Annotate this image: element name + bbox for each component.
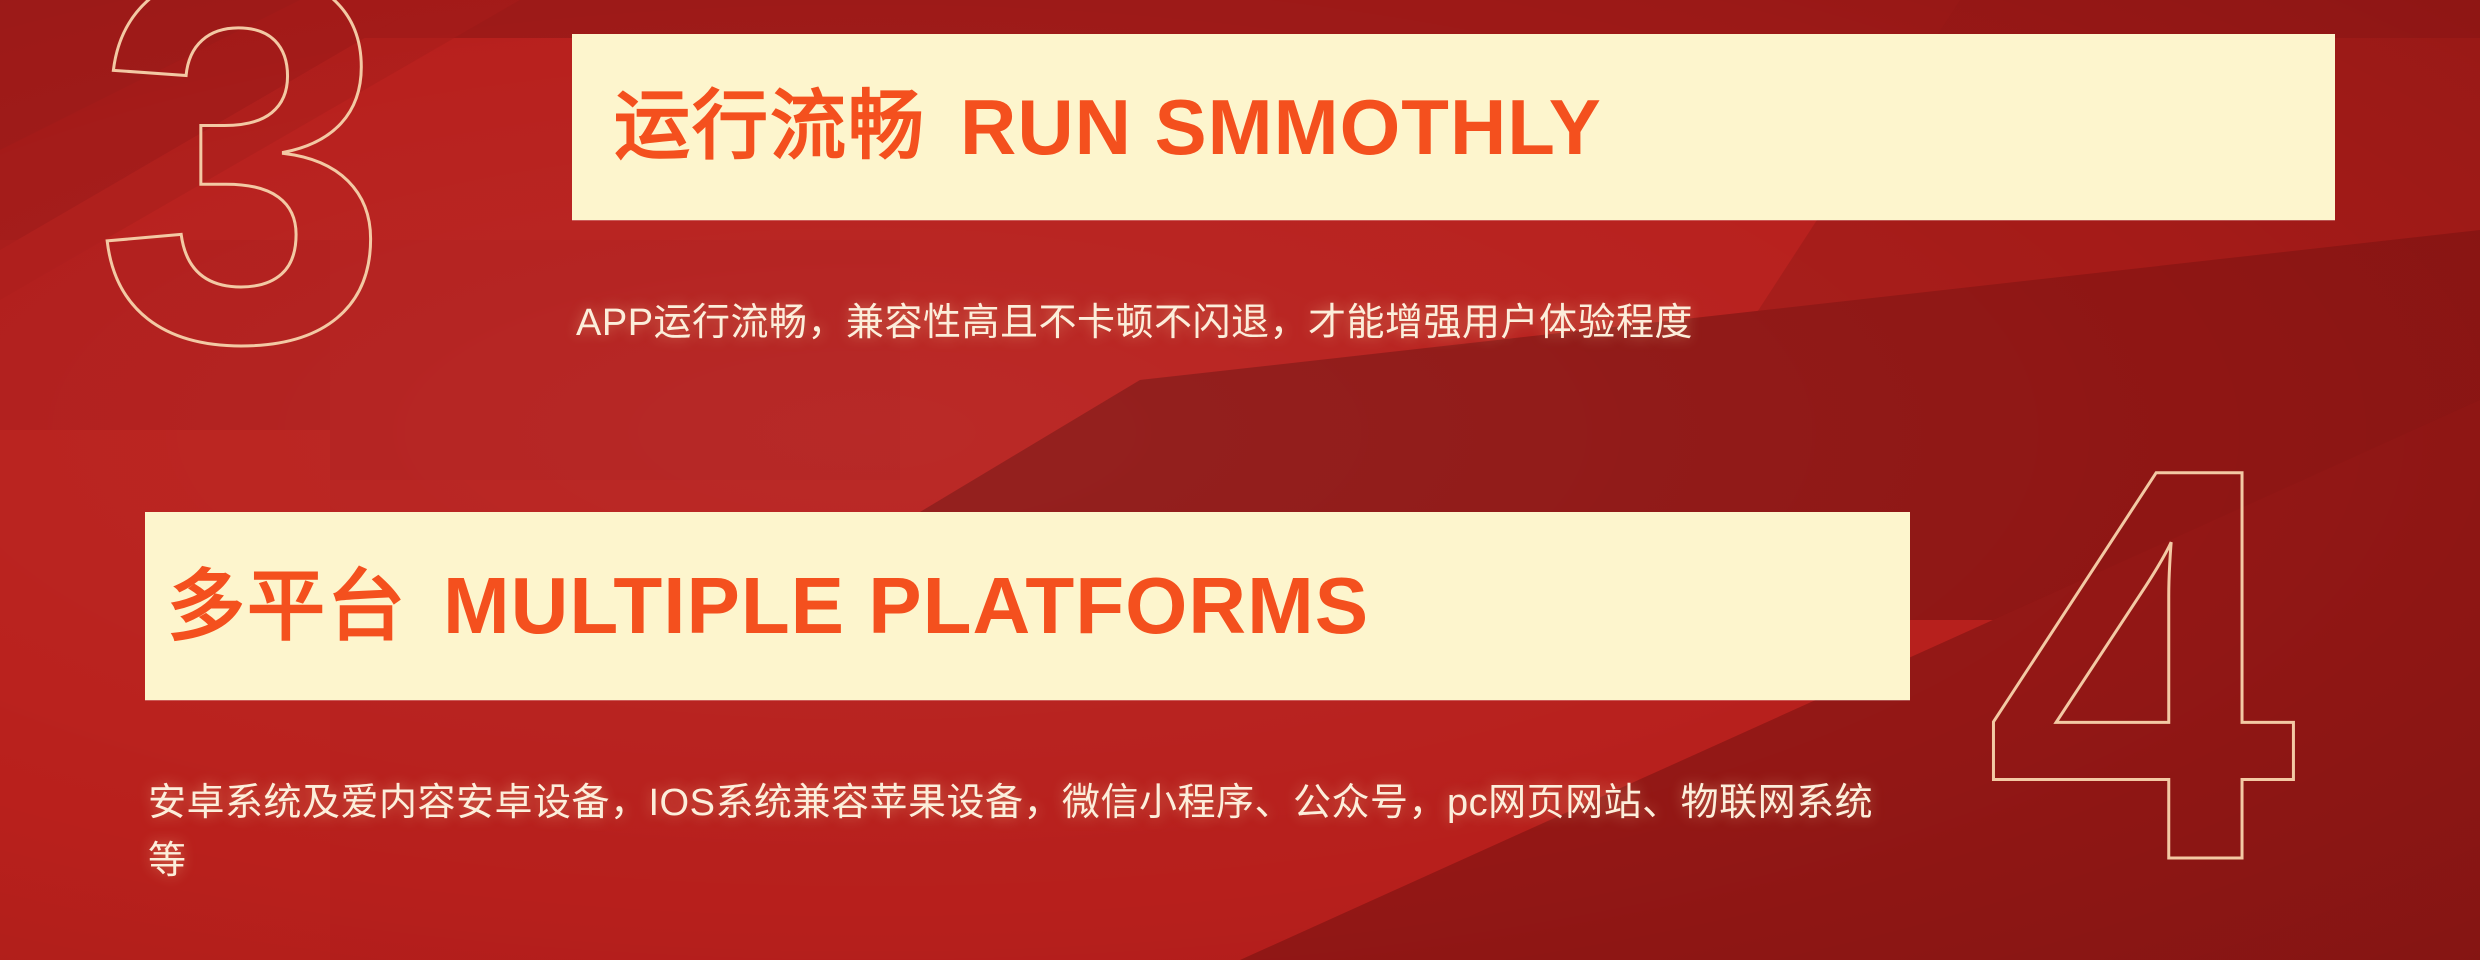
body-text-multiple-platforms: 安卓系统及爱内容安卓设备，IOS系统兼容苹果设备，微信小程序、公众号，pc网页网… — [148, 775, 1908, 891]
banner-en-title-multiple-platforms: MULTIPLE PLATFORMS — [443, 566, 1369, 646]
banner-multiple-platforms: 多平台 MULTIPLE PLATFORMS — [145, 512, 1910, 700]
banner-run-smoothly: 运行流畅 RUN SMMOTHLY — [572, 34, 2335, 220]
banner-cn-title-run-smoothly: 运行流畅 — [614, 89, 926, 165]
promo-page: 3 4 运行流畅 RUN SMMOTHLY APP运行流畅，兼容性高且不卡顿不闪… — [0, 0, 2480, 960]
body-text-run-smoothly: APP运行流畅，兼容性高且不卡顿不闪退，才能增强用户体验程度 — [576, 295, 2356, 353]
banner-cn-title-multiple-platforms: 多平台 — [167, 567, 407, 645]
banner-en-title-run-smoothly: RUN SMMOTHLY — [960, 88, 1602, 166]
